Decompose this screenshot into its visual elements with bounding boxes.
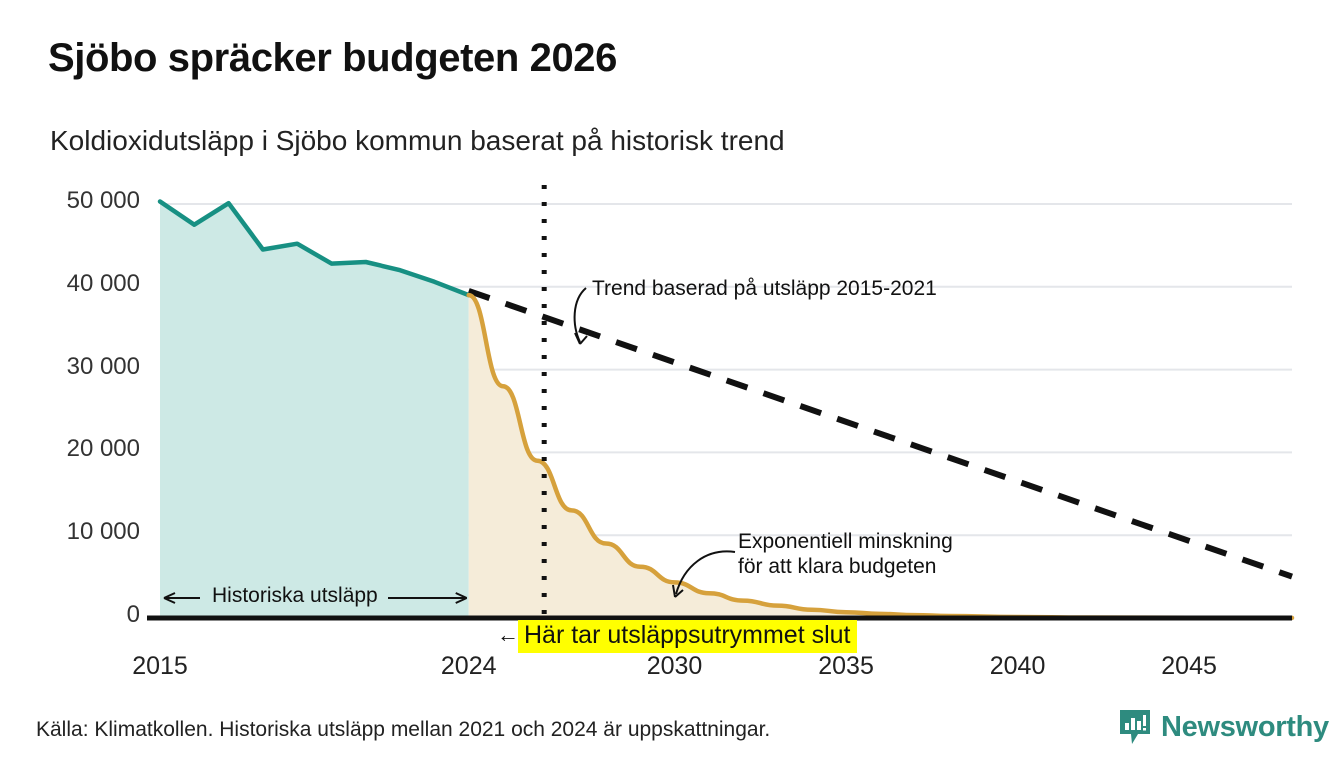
newsworthy-wordmark: Newsworthy <box>1161 711 1329 744</box>
annotation-exponential-line2: för att klara budgeten <box>738 555 953 580</box>
newsworthy-logo[interactable]: Newsworthy <box>1118 708 1329 746</box>
budget-end-label: Här tar utsläppsutrymmet slut <box>518 620 857 653</box>
y-tick-label: 50 000 <box>20 187 140 215</box>
y-tick-label: 10 000 <box>20 518 140 546</box>
x-tick-label: 2030 <box>615 652 735 681</box>
x-tick-label: 2024 <box>409 652 529 681</box>
budget-arrow-icon: ← <box>497 622 519 648</box>
historical-bracket-label: Historiska utsläpp <box>206 584 384 608</box>
y-tick-label: 0 <box>20 601 140 629</box>
historical-area <box>160 202 469 619</box>
annotation-exponential-line1: Exponentiell minskning <box>738 530 953 555</box>
gridlines <box>160 204 1292 535</box>
x-tick-label: 2040 <box>958 652 1078 681</box>
y-tick-label: 20 000 <box>20 435 140 463</box>
x-tick-label: 2015 <box>100 652 220 681</box>
y-tick-label: 40 000 <box>20 270 140 298</box>
historical-line <box>160 202 469 296</box>
callout-arrows <box>575 288 735 597</box>
annotation-exponential: Exponentiell minskning för att klara bud… <box>738 530 953 580</box>
x-tick-label: 2035 <box>786 652 906 681</box>
newsworthy-logo-icon <box>1118 708 1152 746</box>
page-title: Sjöbo spräcker budgeten 2026 <box>48 36 617 81</box>
y-tick-label: 30 000 <box>20 353 140 381</box>
source-note: Källa: Klimatkollen. Historiska utsläpp … <box>36 718 770 742</box>
chart-container: Sjöbo spräcker budgeten 2026 Koldioxidut… <box>0 0 1340 780</box>
annotation-trend: Trend baserad på utsläpp 2015-2021 <box>592 277 937 302</box>
x-tick-label: 2045 <box>1129 652 1249 681</box>
chart-subtitle: Koldioxidutsläpp i Sjöbo kommun baserat … <box>50 125 785 157</box>
